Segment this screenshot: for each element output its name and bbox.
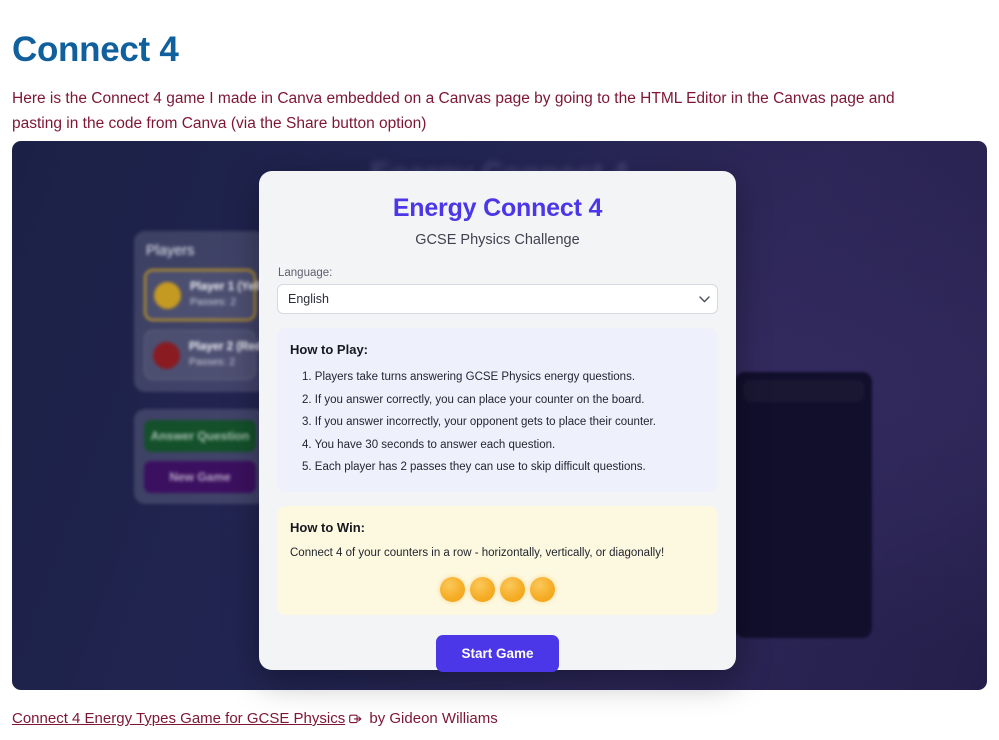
how-to-play-heading: How to Play: — [290, 342, 705, 357]
how-to-play-panel: How to Play: 1. Players take turns answe… — [277, 328, 718, 492]
game-board-panel[interactable] — [735, 372, 872, 638]
game-actions-card: Answer Question New Game — [134, 409, 266, 504]
how-to-play-step-2: 2. If you answer correctly, you can plac… — [302, 389, 705, 412]
player-row-1[interactable]: Player 1 (Yellow) Passes: 2 — [144, 269, 256, 321]
start-game-button[interactable]: Start Game — [436, 635, 558, 672]
counter-disc-icon — [440, 577, 465, 602]
how-to-win-panel: How to Win: Connect 4 of your counters i… — [277, 506, 718, 615]
intro-modal: Energy Connect 4 GCSE Physics Challenge … — [259, 171, 736, 670]
background-left-column: Players Player 1 (Yellow) Passes: 2 Play… — [134, 231, 266, 504]
players-card-heading: Players — [146, 243, 256, 259]
page-intro-text: Here is the Connect 4 game I made in Can… — [12, 86, 942, 136]
language-select[interactable] — [277, 284, 718, 314]
language-label: Language: — [278, 267, 718, 279]
modal-title: Energy Connect 4 — [277, 194, 718, 223]
player-2-name: Player 2 (Red) — [189, 340, 266, 355]
start-button-row: Start Game — [277, 635, 718, 672]
how-to-play-step-4: 4. You have 30 seconds to answer each qu… — [302, 434, 705, 457]
caption-author: by Gideon Williams — [365, 710, 498, 727]
how-to-win-heading: How to Win: — [290, 520, 705, 535]
new-game-button[interactable]: New Game — [144, 461, 256, 493]
answer-question-button[interactable]: Answer Question — [144, 420, 256, 452]
game-board-header-bar — [743, 380, 864, 402]
counter-disc-icon — [470, 577, 495, 602]
how-to-win-text: Connect 4 of your counters in a row - ho… — [290, 544, 705, 562]
player-2-disc-icon — [153, 342, 180, 369]
how-to-play-step-1: 1. Players take turns answering GCSE Phy… — [302, 366, 705, 389]
players-card: Players Player 1 (Yellow) Passes: 2 Play… — [134, 231, 266, 392]
embed-caption: Connect 4 Energy Types Game for GCSE Phy… — [12, 708, 498, 730]
player-1-disc-icon — [154, 282, 181, 309]
page-root: Connect 4 Here is the Connect 4 game I m… — [0, 0, 999, 740]
source-link[interactable]: Connect 4 Energy Types Game for GCSE Phy… — [12, 710, 345, 727]
modal-subtitle: GCSE Physics Challenge — [277, 232, 718, 248]
counter-disc-icon — [530, 577, 555, 602]
how-to-play-step-3: 3. If you answer incorrectly, your oppon… — [302, 411, 705, 434]
external-link-icon — [349, 713, 362, 725]
counter-disc-icon — [500, 577, 525, 602]
page-title: Connect 4 — [12, 27, 179, 73]
language-select-wrapper[interactable] — [277, 284, 718, 314]
how-to-play-step-5: 5. Each player has 2 passes they can use… — [302, 456, 705, 479]
player-row-2[interactable]: Player 2 (Red) Passes: 2 — [144, 330, 256, 380]
winning-counters-row — [290, 577, 705, 602]
player-2-passes: Passes: 2 — [189, 355, 266, 370]
